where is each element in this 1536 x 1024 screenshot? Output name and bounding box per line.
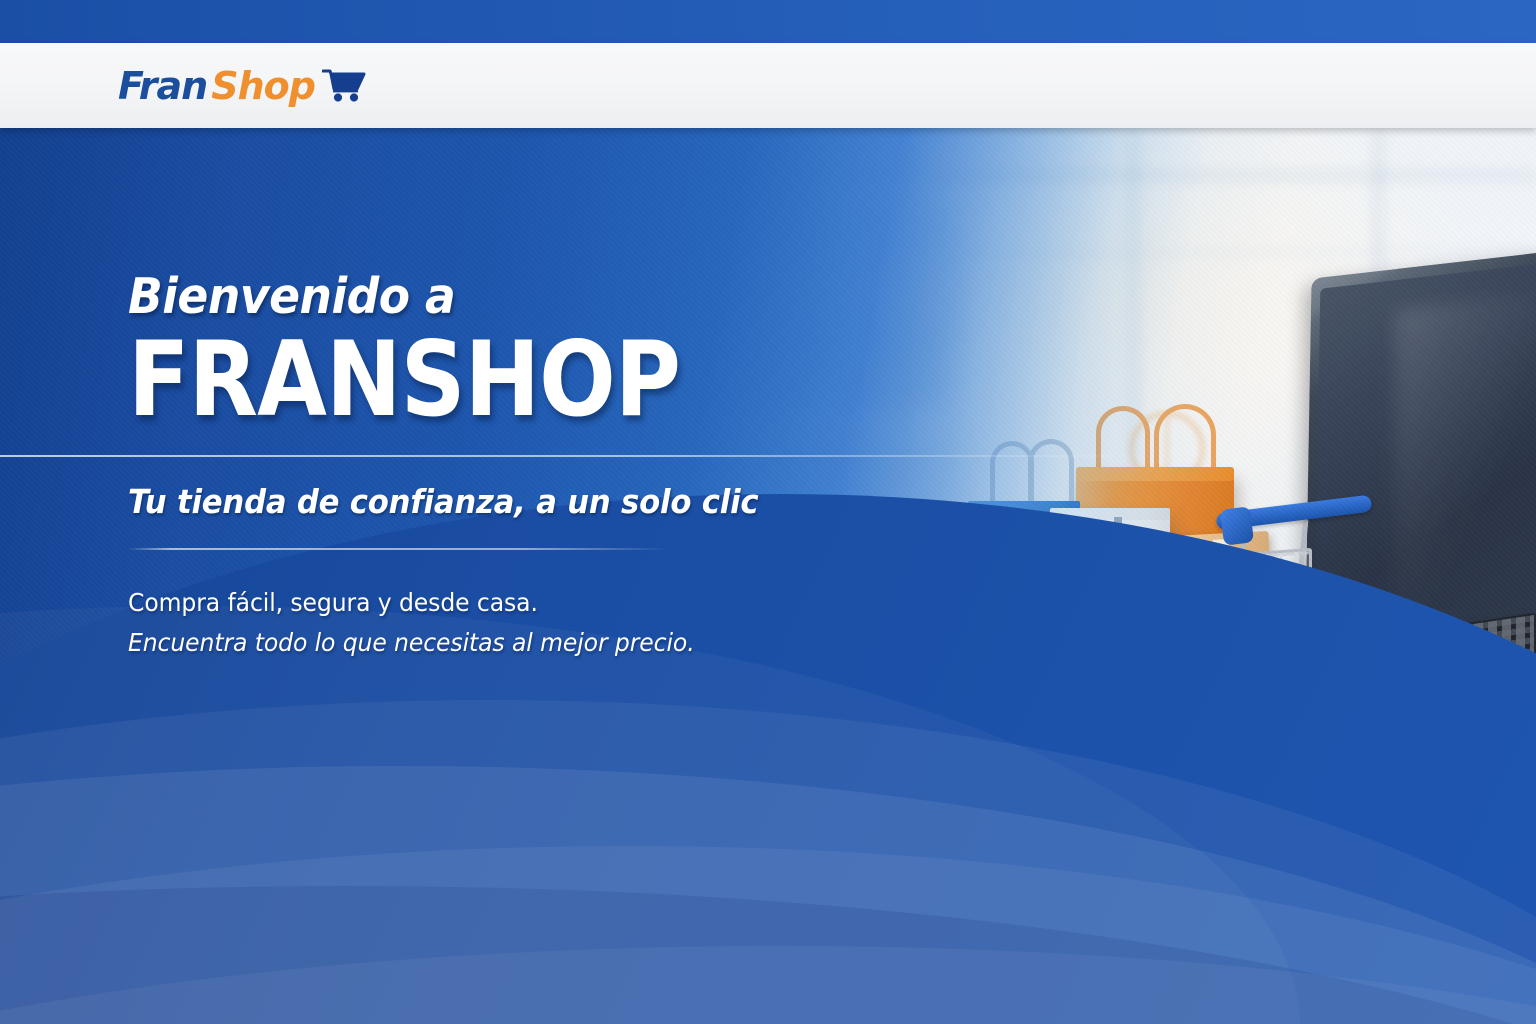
top-blue-strip bbox=[0, 0, 1536, 43]
header-bar: Fran Shop bbox=[0, 43, 1536, 128]
hero-tagline: Tu tienda de confianza, a un solo clic bbox=[128, 482, 758, 521]
hero-divider-bottom bbox=[128, 548, 668, 550]
hero-welcome-text: Bienvenido a bbox=[128, 268, 1039, 325]
hero-body-line-1: Compra fácil, segura y desde casa. bbox=[128, 588, 538, 617]
hero-divider-top bbox=[0, 455, 1180, 457]
logo-text-fran: Fran bbox=[118, 67, 207, 105]
site-logo[interactable]: Fran Shop bbox=[118, 66, 366, 106]
banner-root: Bienvenido a FRANSHOP Tu tienda de confi… bbox=[0, 0, 1536, 1024]
hero-brand-title: FRANSHOP bbox=[128, 328, 1030, 432]
logo-text-shop: Shop bbox=[211, 67, 315, 105]
shopping-cart-icon bbox=[322, 68, 366, 106]
hero-body-line-2: Encuentra todo lo que necesitas al mejor… bbox=[128, 628, 695, 657]
hero-text-block: Bienvenido a FRANSHOP bbox=[128, 268, 1108, 429]
